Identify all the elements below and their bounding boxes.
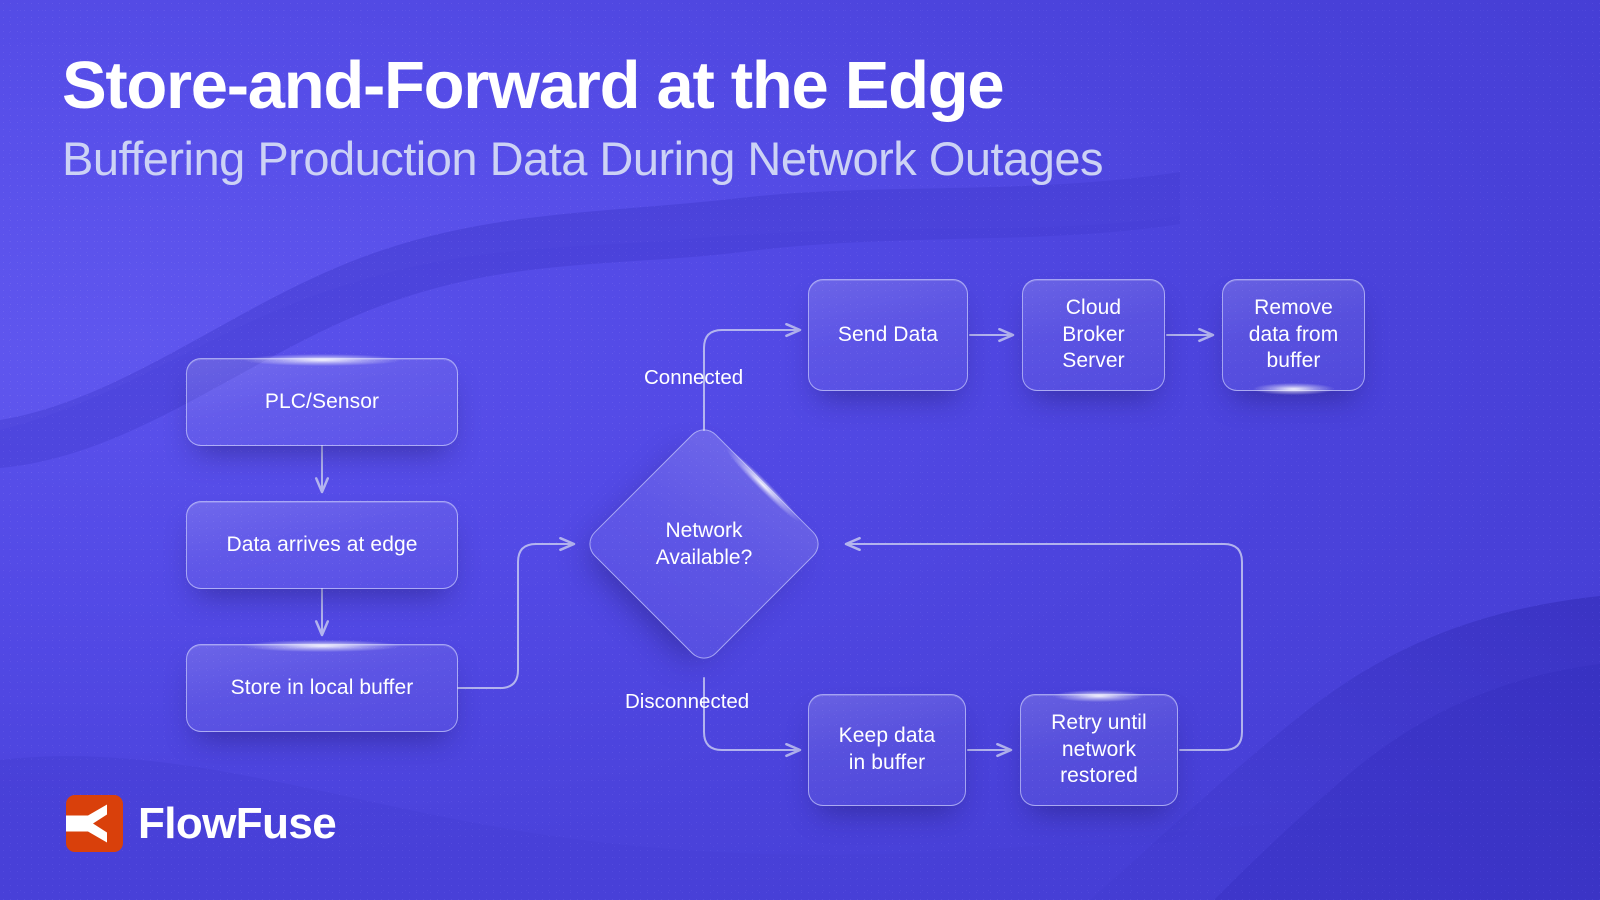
flowfuse-logo[interactable]: FlowFuse (66, 795, 336, 852)
node-keep-data-in-buffer[interactable]: Keep data in buffer (808, 694, 966, 806)
node-label: Remove data from buffer (1249, 295, 1339, 375)
node-store-in-local-buffer[interactable]: Store in local buffer (186, 644, 458, 732)
node-label: Retry until network restored (1051, 710, 1147, 790)
node-label: PLC/Sensor (265, 389, 379, 416)
node-label: Data arrives at edge (226, 532, 417, 559)
page-title: Store-and-Forward at the Edge (62, 50, 1103, 121)
node-retry-until-network-restored[interactable]: Retry until network restored (1020, 694, 1178, 806)
node-data-arrives-at-edge[interactable]: Data arrives at edge (186, 501, 458, 589)
node-label: Send Data (838, 322, 938, 349)
node-plc-sensor[interactable]: PLC/Sensor (186, 358, 458, 446)
node-cloud-broker-server[interactable]: Cloud Broker Server (1022, 279, 1165, 391)
header: Store-and-Forward at the Edge Buffering … (62, 50, 1103, 186)
edge-label-connected: Connected (644, 366, 743, 390)
flowfuse-mark-icon (66, 795, 123, 852)
node-label: Keep data in buffer (839, 723, 936, 776)
page-subtitle: Buffering Production Data During Network… (62, 133, 1103, 186)
edge-label-disconnected: Disconnected (625, 690, 749, 714)
node-label: Cloud Broker Server (1062, 295, 1124, 375)
node-send-data[interactable]: Send Data (808, 279, 968, 391)
node-label: Store in local buffer (231, 675, 414, 702)
flowfuse-wordmark: FlowFuse (138, 799, 336, 849)
node-remove-data-from-buffer[interactable]: Remove data from buffer (1222, 279, 1365, 391)
